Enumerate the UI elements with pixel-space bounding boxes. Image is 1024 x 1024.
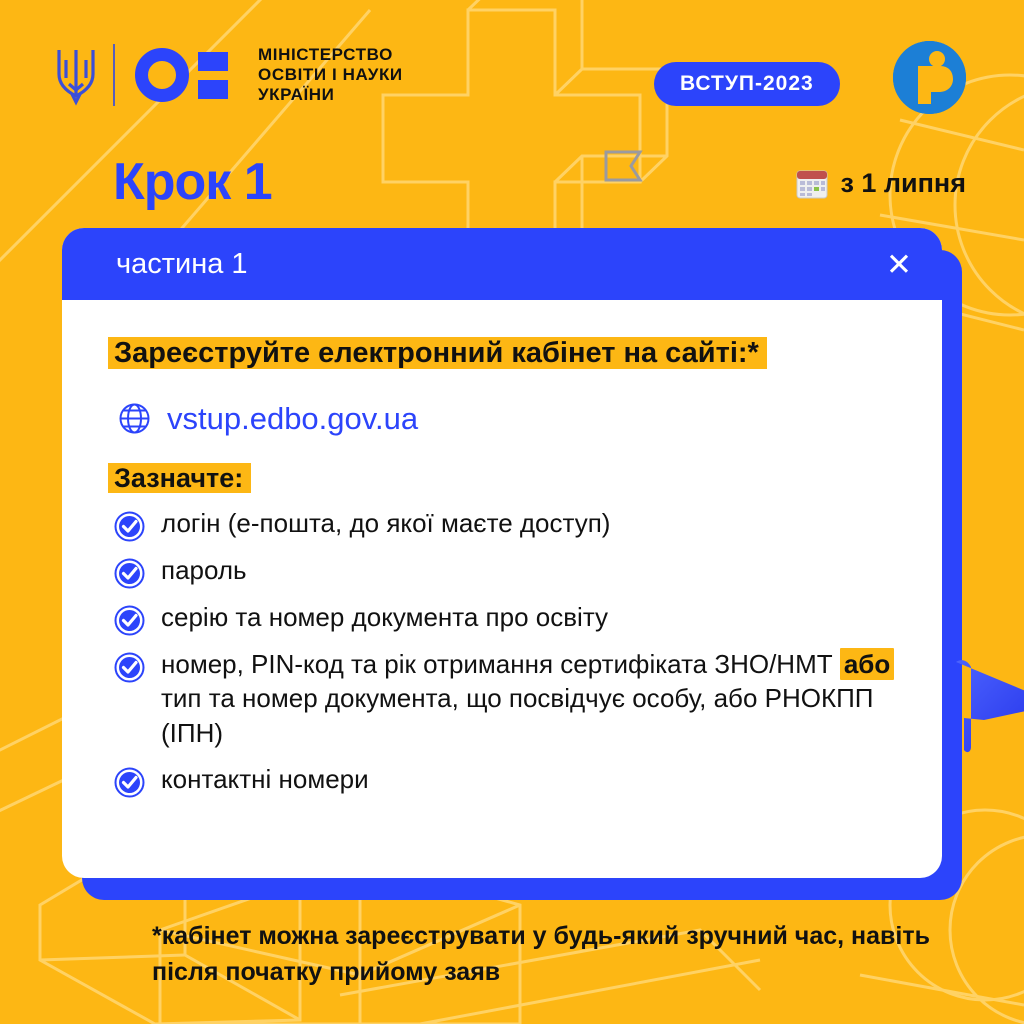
card-panel: частина 1 ✕ Зареєструйте електронний каб… [62, 228, 942, 878]
footnote: *кабінет можна зареєструвати у будь-який… [152, 918, 952, 990]
logo-divider [113, 44, 115, 106]
card-heading: Зареєструйте електронний кабінет на сайт… [114, 334, 759, 373]
ministry-line-2: ОСВІТИ І НАУКИ [258, 65, 403, 85]
arrow-cursor-icon [940, 648, 1024, 760]
trident-icon [55, 44, 97, 106]
card-title: частина 1 [116, 248, 248, 281]
list-item-text: тип та номер документа, що посвідчує осо… [161, 683, 874, 748]
check-circle-icon [114, 605, 145, 636]
mon-o-icon [135, 48, 189, 102]
list-item-text: пароль [161, 555, 247, 585]
list-item: номер, PIN-код та рік отримання сертифік… [114, 647, 902, 751]
edbo-circle-logo [893, 41, 966, 114]
page-header: МІНІСТЕРСТВО ОСВІТИ І НАУКИ УКРАЇНИ ВСТУ… [0, 0, 1024, 140]
calendar-icon [796, 168, 828, 199]
check-circle-icon [114, 558, 145, 589]
site-link-row[interactable]: vstup.edbo.gov.ua [118, 401, 902, 437]
mon-equals-icon [198, 52, 228, 99]
site-url[interactable]: vstup.edbo.gov.ua [167, 401, 418, 437]
globe-icon [118, 402, 151, 435]
list-item-label: контактні номери [161, 762, 369, 797]
ministry-name: МІНІСТЕРСТВО ОСВІТИ І НАУКИ УКРАЇНИ [258, 45, 403, 105]
ministry-line-1: МІНІСТЕРСТВО [258, 45, 403, 65]
list-item: серію та номер документа про освіту [114, 600, 902, 636]
vstup-badge[interactable]: ВСТУП-2023 [654, 62, 840, 106]
list-item-label: пароль [161, 553, 247, 588]
sub-label: Зазначте: [114, 463, 243, 494]
date-row: з 1 липня [796, 168, 966, 199]
info-card: частина 1 ✕ Зареєструйте електронний каб… [62, 228, 962, 900]
ministry-line-3: УКРАЇНИ [258, 85, 403, 105]
requirements-list: логін (е-пошта, до якої маєте доступ) па… [114, 506, 902, 798]
list-item: пароль [114, 553, 902, 589]
highlighted-word: або [840, 648, 894, 680]
list-item-label: логін (е-пошта, до якої маєте доступ) [161, 506, 610, 541]
ministry-logo: МІНІСТЕРСТВО ОСВІТИ І НАУКИ УКРАЇНИ [55, 44, 403, 106]
card-body: Зареєструйте електронний кабінет на сайт… [62, 300, 942, 829]
page-title: Крок 1 [113, 152, 272, 212]
card-heading-text: Зареєструйте електронний кабінет на сайт… [114, 337, 759, 369]
list-item: логін (е-пошта, до якої маєте доступ) [114, 506, 902, 542]
mon-o-equals-mark [135, 48, 228, 102]
list-item-text: номер, PIN-код та рік отримання сертифік… [161, 649, 840, 679]
list-item-label: номер, PIN-код та рік отримання сертифік… [161, 647, 902, 751]
check-circle-icon [114, 652, 145, 683]
infographic-slide: МІНІСТЕРСТВО ОСВІТИ І НАУКИ УКРАЇНИ ВСТУ… [0, 0, 1024, 1024]
list-item: контактні номери [114, 762, 902, 798]
list-item-text: контактні номери [161, 764, 369, 794]
check-circle-icon [114, 511, 145, 542]
date-text: з 1 липня [840, 168, 966, 199]
list-item-text: логін (е-пошта, до якої маєте доступ) [161, 508, 610, 538]
list-item-label: серію та номер документа про освіту [161, 600, 608, 635]
list-item-text: серію та номер документа про освіту [161, 602, 608, 632]
card-header: частина 1 ✕ [62, 228, 942, 300]
check-circle-icon [114, 767, 145, 798]
close-icon[interactable]: ✕ [886, 249, 912, 280]
sub-label-text: Зазначте: [114, 463, 243, 493]
